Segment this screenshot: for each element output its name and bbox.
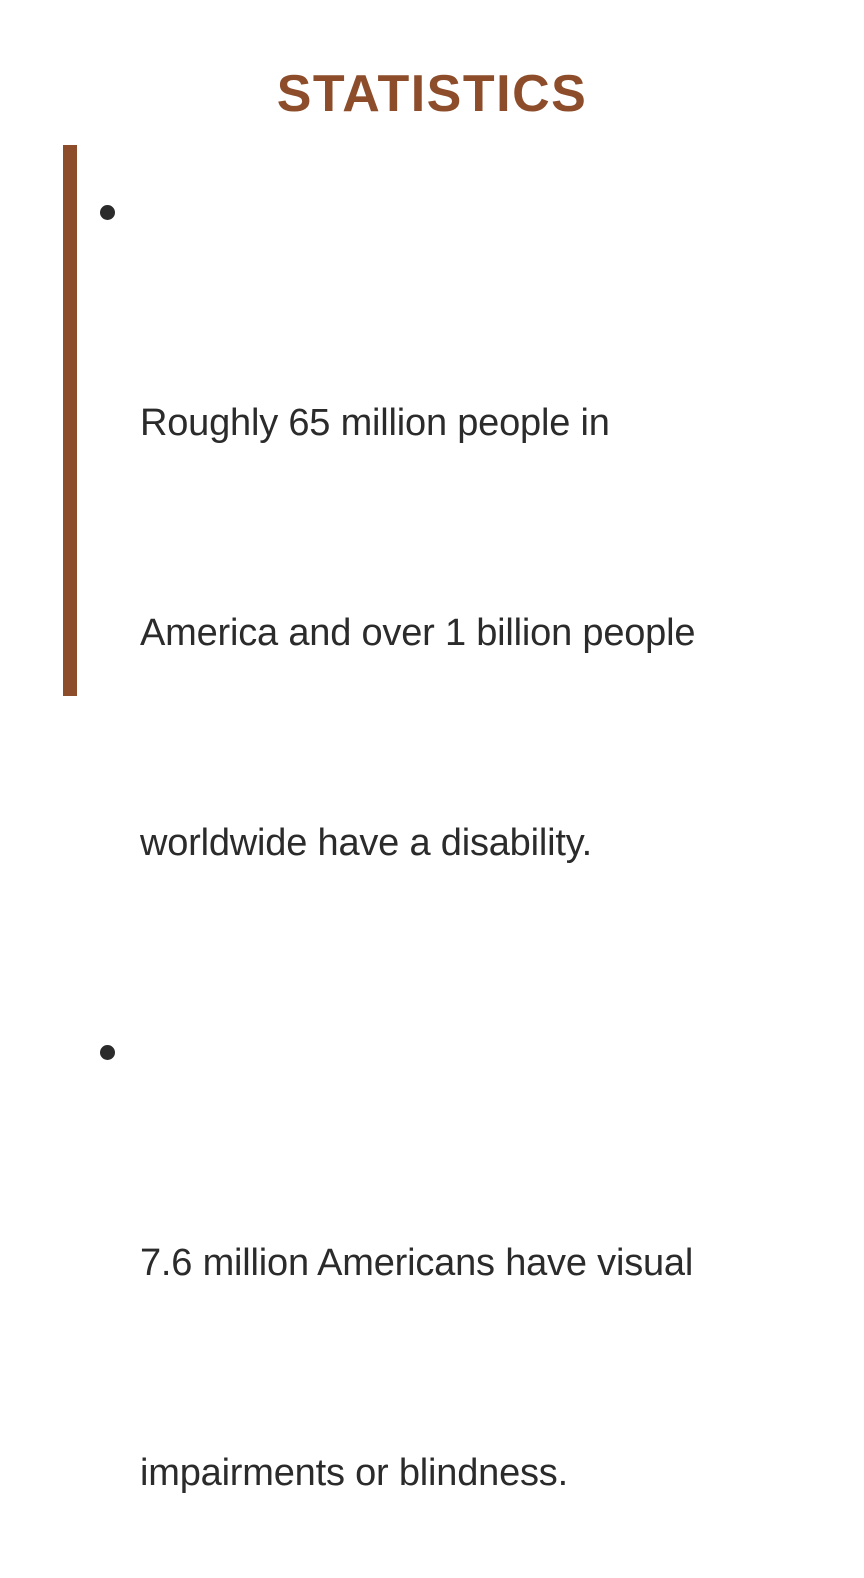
bullet-dot-icon xyxy=(100,1045,115,1060)
page-title: STATISTICS xyxy=(0,66,864,123)
list-item-line: worldwide have a disability. xyxy=(140,808,864,878)
list-item-line: impairments or blindness. xyxy=(140,1438,864,1508)
statistics-slide: STATISTICS Roughly 65 million people in … xyxy=(0,0,864,789)
vertical-accent-bar xyxy=(63,145,77,696)
list-item-line: Roughly 65 million people in xyxy=(140,388,864,458)
bullet-dot-icon xyxy=(100,205,115,220)
statistics-bullet-list: Roughly 65 million people in America and… xyxy=(96,178,864,1578)
list-item: Roughly 65 million people in America and… xyxy=(96,178,864,1018)
list-item: 7.6 million Americans have visual impair… xyxy=(96,1018,864,1578)
list-item-line: 7.6 million Americans have visual xyxy=(140,1228,864,1298)
list-item-line: America and over 1 billion people xyxy=(140,598,864,668)
